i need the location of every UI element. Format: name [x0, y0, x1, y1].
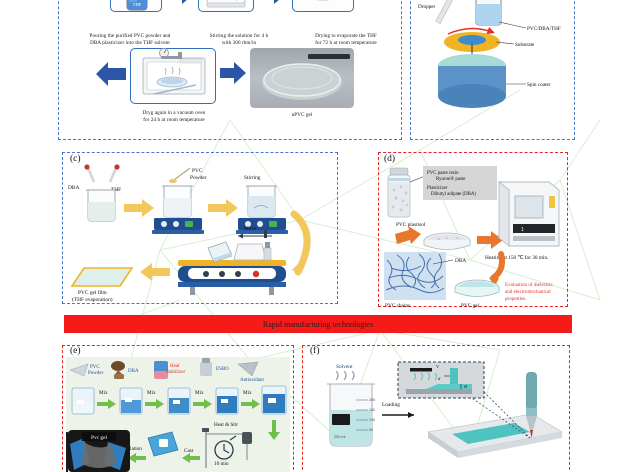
svg-text:Antioxidant: Antioxidant	[240, 378, 264, 383]
svg-text:Ryuron® paste: Ryuron® paste	[436, 176, 465, 182]
svg-text:PVC: PVC	[192, 168, 203, 174]
svg-text:PVC chains: PVC chains	[385, 303, 410, 308]
svg-text:PVC: PVC	[90, 365, 100, 370]
svg-text:Stabilizer: Stabilizer	[166, 370, 185, 375]
svg-text:DBA: DBA	[128, 369, 139, 374]
svg-text:Spin coater: Spin coater	[527, 82, 551, 88]
panel-a-caption-3: Drying to evaporate the THFfor 72 h at r…	[290, 33, 402, 46]
svg-text:Powder: Powder	[88, 371, 104, 376]
svg-text:Plasticizer: Plasticizer	[427, 186, 448, 191]
pvc-gel-photo-e: Pvc gel	[68, 430, 130, 472]
panel-a-caption-4: Dryg again in a vacuum ovenfor 24 h at r…	[128, 110, 220, 123]
svg-text:DBA: DBA	[455, 258, 466, 264]
svg-text:(THF evaporation): (THF evaporation)	[72, 296, 113, 302]
svg-text:Mix: Mix	[147, 390, 156, 396]
arrow-step3-to-step4	[96, 62, 126, 86]
svg-text:properties.: properties.	[505, 296, 527, 302]
svg-text:Pvc gel: Pvc gel	[91, 435, 108, 441]
svg-text:and electromechanical: and electromechanical	[505, 289, 551, 295]
panel-f-diagram: Solvent 200 150 100 50 250 ml Loading	[306, 358, 568, 472]
svg-text:Powder: Powder	[190, 175, 207, 181]
banner-label: Rapid manufacturing technologies	[263, 320, 373, 329]
svg-text:Evaluation of dielectric: Evaluation of dielectric	[505, 281, 554, 288]
arrow-step1-to-step2	[168, 0, 194, 4]
svg-text:PVC paste resin: PVC paste resin	[427, 171, 459, 176]
svg-text:DBA: DBA	[68, 185, 79, 191]
npvc-gel-photo	[250, 48, 354, 108]
svg-text:150: 150	[369, 408, 375, 412]
panel-a-caption-5: nPVC gel	[262, 112, 342, 119]
svg-text:Dibutyl adipate (DBA): Dibutyl adipate (DBA)	[431, 192, 476, 197]
vacuum-oven-icon	[134, 44, 214, 104]
svg-text:Cast: Cast	[184, 448, 194, 454]
panel-e-label: (e)	[70, 346, 81, 356]
svg-text:100: 100	[369, 418, 375, 422]
rapid-manufacturing-banner: Rapid manufacturing technologies	[64, 315, 572, 333]
panel-c-diagram: DBA THF PVC Powder	[66, 162, 336, 302]
svg-text:Solvent: Solvent	[336, 364, 353, 370]
svg-text:Heat: Heat	[170, 364, 180, 369]
spin-coater-diagram: Dropper Beaker PVC/DBA/THF Substrate Spi…	[414, 0, 574, 128]
svg-text:Heat & Stir: Heat & Stir	[214, 422, 238, 428]
magnetic-stirrer-icon: 300 rbm	[203, 0, 249, 12]
panel-d-diagram: PVC plastisol PVC paste resin Ryuron® pa…	[381, 160, 567, 308]
svg-text:Dropper: Dropper	[418, 4, 436, 10]
arrow-step4-to-product	[220, 62, 246, 84]
petri-dish-solution-icon: Solution	[298, 0, 348, 8]
svg-text:50: 50	[369, 428, 373, 432]
svg-text:PVC plastisol: PVC plastisol	[396, 222, 426, 228]
arrow-step2-to-step3	[260, 0, 286, 4]
svg-text:PVC gel: PVC gel	[461, 303, 480, 308]
svg-text:Loading: Loading	[382, 402, 400, 408]
svg-text:H: H	[463, 384, 468, 389]
svg-text:200: 200	[369, 398, 375, 402]
svg-text:THF: THF	[133, 2, 142, 7]
svg-text:PVC/DBA/THF: PVC/DBA/THF	[527, 26, 561, 32]
panel-f-label: (f)	[310, 346, 320, 356]
thf-beaker-icon: THF	[117, 0, 155, 12]
svg-text:Heating at 150 ℃ for 30 min.: Heating at 150 ℃ for 30 min.	[485, 254, 548, 261]
svg-text:PVC gel film: PVC gel film	[78, 289, 108, 296]
svg-text:Substrate: Substrate	[515, 42, 535, 48]
svg-text:ESBO: ESBO	[216, 367, 229, 372]
svg-text:250 ml: 250 ml	[334, 435, 346, 439]
svg-text:1: 1	[521, 227, 524, 233]
figure-root: THF 300 rbm Solution Pouring the purifie…	[0, 0, 630, 472]
svg-text:Mix: Mix	[99, 390, 108, 396]
svg-text:Stirring: Stirring	[244, 175, 261, 181]
svg-text:Move: Move	[244, 226, 257, 232]
svg-text:10 min: 10 min	[214, 461, 229, 467]
svg-text:Mix: Mix	[195, 390, 204, 396]
svg-text:Mix: Mix	[243, 390, 252, 396]
